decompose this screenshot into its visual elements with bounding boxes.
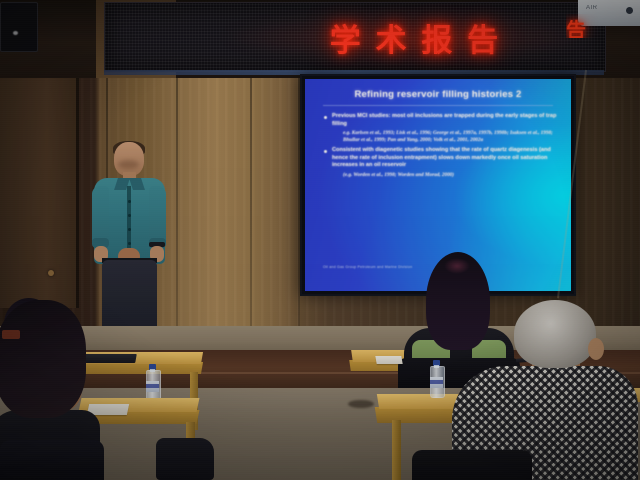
presenter-trousers bbox=[102, 260, 157, 328]
water-bottle[interactable] bbox=[430, 366, 443, 398]
air-unit-vent-icon bbox=[626, 7, 633, 14]
slide-footer: Oil and Gas Group Petroleum and Marine D… bbox=[323, 265, 412, 269]
presenter bbox=[92, 142, 168, 328]
slide-subbullet: e.g. Karlsen et al., 1993; Lisk et al., … bbox=[323, 130, 559, 144]
shirt-button bbox=[128, 214, 131, 217]
air-unit-label: AIR bbox=[586, 5, 598, 11]
slide-bullet-list: Previous MCI studies: most oil inclusion… bbox=[323, 113, 559, 182]
paper-sheet[interactable] bbox=[375, 356, 402, 364]
chair-foreground-left bbox=[0, 440, 104, 480]
led-banner-text: 学 术 报 告 bbox=[105, 3, 605, 71]
shirt-button bbox=[128, 200, 131, 203]
slide-bullet: Consistent with diagenetic studies showi… bbox=[323, 147, 559, 170]
wall-monitor-icon bbox=[0, 2, 38, 52]
wooden-door[interactable] bbox=[0, 58, 78, 308]
monitor-glint bbox=[13, 31, 18, 35]
lecture-hall-photo: 学 术 报 告 AIR 告 Refining reservoir filling… bbox=[0, 0, 640, 480]
shirt-button bbox=[128, 242, 131, 245]
bottle-label-stripe bbox=[430, 380, 443, 384]
led-banner: 学 术 报 告 bbox=[104, 2, 606, 72]
bag-under-desk bbox=[156, 438, 214, 480]
bottle-neck bbox=[150, 369, 155, 372]
floor-scuff bbox=[348, 400, 374, 408]
shirt-button bbox=[128, 228, 131, 231]
door-knob[interactable] bbox=[48, 270, 54, 276]
hair-clip bbox=[2, 330, 20, 339]
bottle-label-stripe bbox=[146, 384, 159, 388]
slide-bullet: Previous MCI studies: most oil inclusion… bbox=[323, 113, 559, 128]
slide-subbullet: (e.g. Worden et al., 1998; Worden and Mo… bbox=[323, 172, 559, 179]
led-banner-overflow-char: 告 bbox=[566, 14, 600, 38]
presenter-head bbox=[114, 142, 144, 176]
slide-title: Refining reservoir filling histories 2 bbox=[305, 89, 571, 100]
bottle-label bbox=[430, 377, 443, 388]
audience-elderly-man bbox=[452, 300, 638, 480]
desk-leg bbox=[392, 420, 401, 480]
presenter-face-shadow bbox=[118, 160, 139, 169]
man-ear bbox=[588, 338, 604, 360]
door-edge bbox=[76, 58, 79, 308]
man-grey-hair bbox=[514, 300, 596, 368]
slide-title-divider bbox=[323, 105, 553, 106]
bottle-label bbox=[146, 381, 159, 392]
man-chair-back bbox=[412, 450, 532, 480]
bottle-neck bbox=[434, 365, 439, 368]
woman-hair-highlight bbox=[444, 258, 470, 274]
foreground-left-hair bbox=[0, 300, 86, 418]
